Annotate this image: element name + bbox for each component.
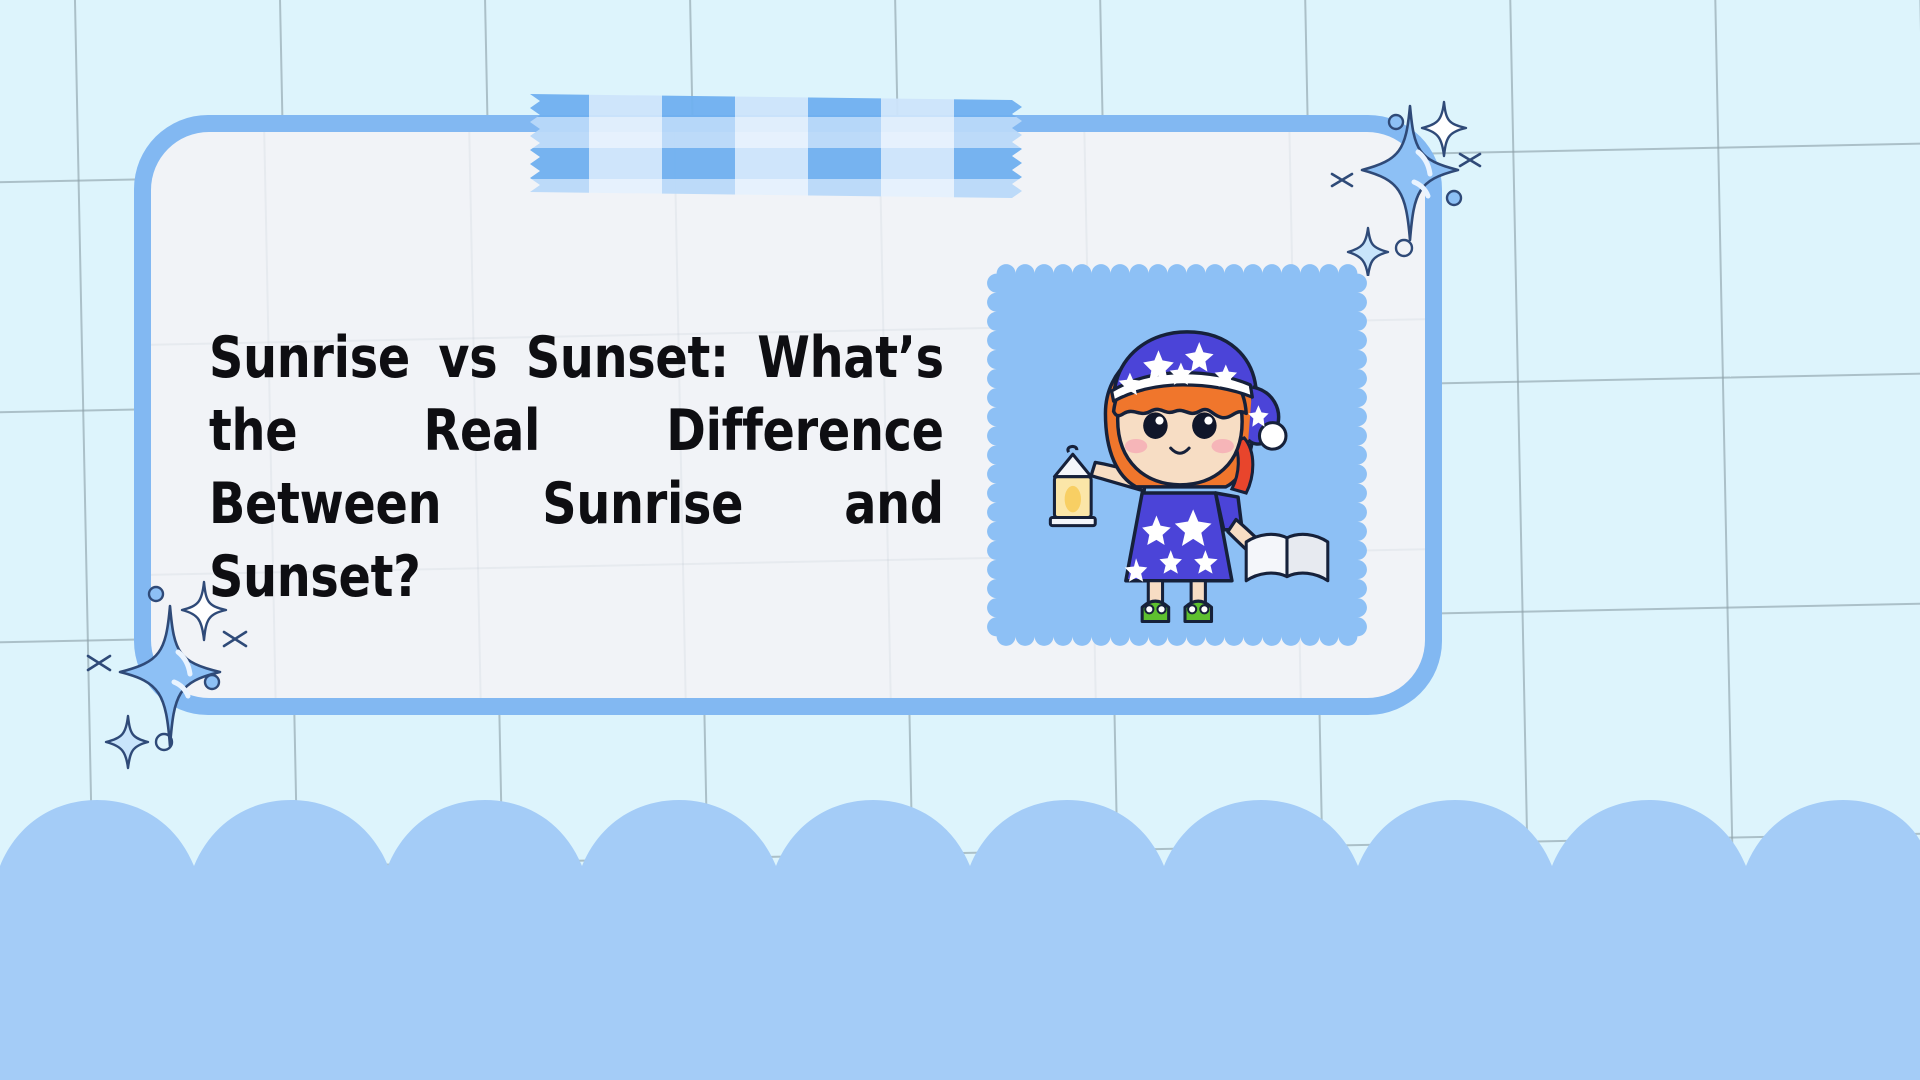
open-book-icon <box>1246 534 1328 580</box>
page-title: Sunrise vs Sunset: What’s the Real Diffe… <box>209 322 999 614</box>
card-surface: Sunrise vs Sunset: What’s the Real Diffe… <box>151 132 1425 698</box>
illustration-panel <box>987 264 1367 646</box>
gingham-washi-tape <box>516 86 1026 206</box>
page-title-text: Sunrise vs Sunset: What’s the Real Diffe… <box>209 322 944 614</box>
illustration-svg <box>987 264 1367 646</box>
washi-tape-svg <box>516 86 1026 206</box>
